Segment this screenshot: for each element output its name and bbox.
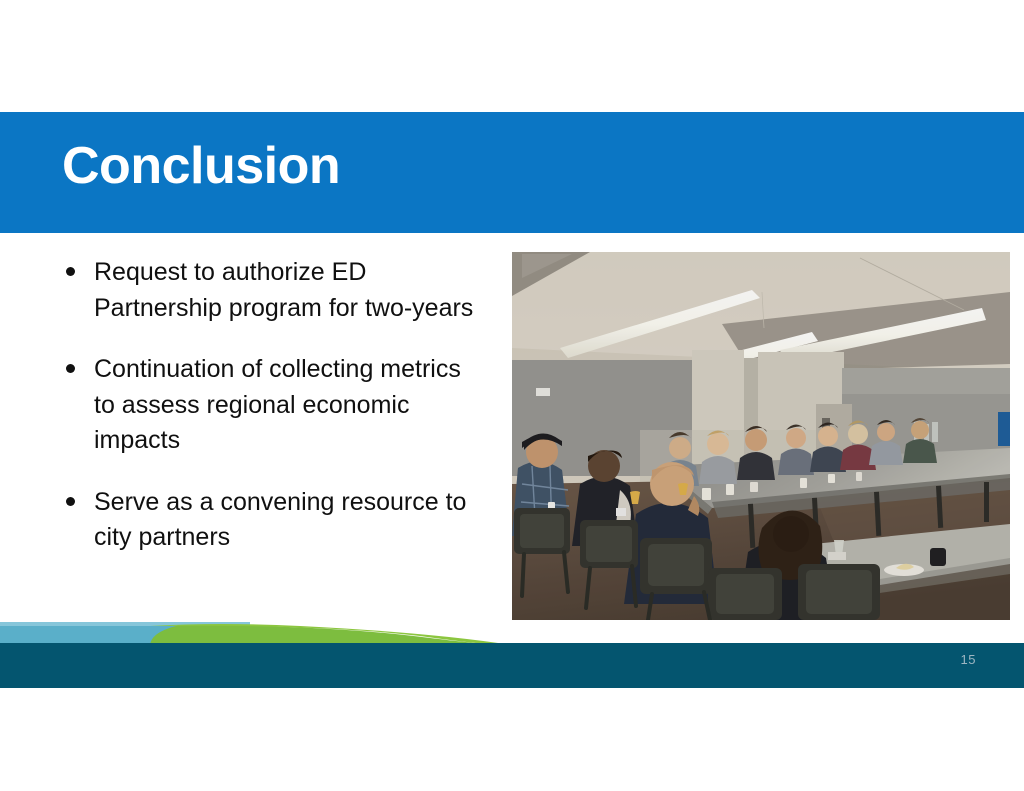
- bullet-list: Request to authorize ED Partnership prog…: [58, 255, 478, 556]
- footer-band: [0, 643, 1024, 684]
- bullet-item: Continuation of collecting metrics to as…: [58, 352, 478, 459]
- bullet-item: Request to authorize ED Partnership prog…: [58, 255, 478, 326]
- bullet-text: Request to authorize ED Partnership prog…: [94, 258, 473, 322]
- slide-title: Conclusion: [62, 138, 340, 195]
- bullet-item: Serve as a convening resource to city pa…: [58, 485, 478, 556]
- bullet-dot-icon: [66, 497, 75, 506]
- bullet-text: Serve as a convening resource to city pa…: [94, 488, 466, 552]
- presentation-slide: Conclusion Request to authorize ED Partn…: [0, 0, 1024, 791]
- bullet-text: Continuation of collecting metrics to as…: [94, 355, 461, 454]
- bullet-dot-icon: [66, 364, 75, 373]
- meeting-photo: [512, 252, 1010, 620]
- page-number: 15: [961, 652, 976, 667]
- bullet-dot-icon: [66, 267, 75, 276]
- meeting-photo-image: [512, 252, 1010, 620]
- slide-title-band: Conclusion: [0, 112, 1024, 233]
